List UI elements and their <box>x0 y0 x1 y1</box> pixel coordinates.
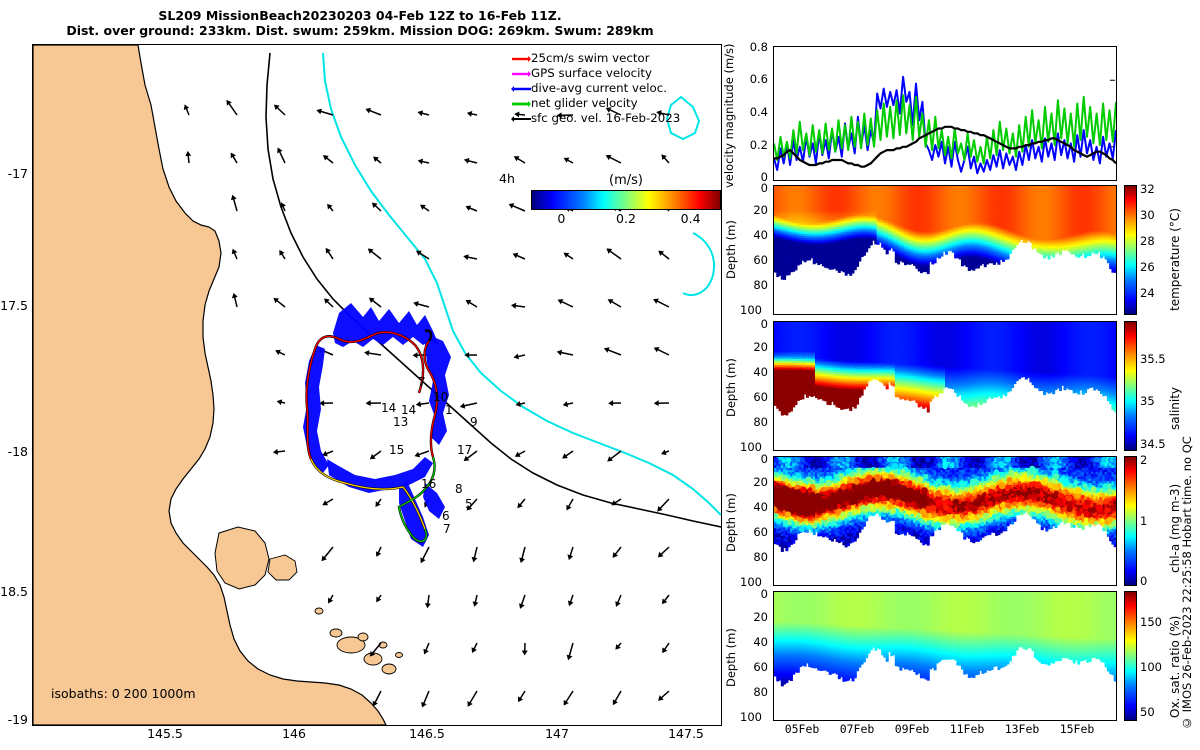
sfc-geo-icon <box>511 111 531 126</box>
salinity-section <box>774 322 1116 450</box>
chla-ytick-4: 80 <box>742 550 768 564</box>
oxy-cb-tick-1: 100 <box>1140 660 1162 674</box>
velocity-chart <box>774 47 1116 180</box>
oxy-ytick-3: 60 <box>742 660 768 674</box>
map-ytick-1: 17.5 <box>0 298 28 313</box>
waypoint-label-6: 6 <box>442 509 450 523</box>
dive-avg-icon <box>511 81 531 96</box>
waypoint-label-13: 13 <box>393 415 408 429</box>
waypoint-label-5: 5 <box>465 497 473 511</box>
waypoint-label-8: 8 <box>455 482 463 496</box>
oxy-ytick-4: 80 <box>742 685 768 699</box>
map-cb-tick-1: 0.2 <box>616 211 636 226</box>
time-tick-2: 09Feb <box>895 722 930 736</box>
time-interval-label: 4h <box>499 171 515 186</box>
sal-cb-tick-0: 34.5 <box>1140 437 1166 451</box>
legend-label-4: sfc geo. vel. 16-Feb-2023 <box>531 111 680 125</box>
legend-label-3: net glider velocity <box>531 96 638 110</box>
map-svg <box>33 45 721 725</box>
gps-velocity-icon <box>511 66 531 81</box>
time-tick-0: 05Feb <box>785 722 820 736</box>
net-glider-icon <box>511 96 531 111</box>
vel-ytick-1: 0.2 <box>742 138 768 152</box>
chla-colorbar <box>1124 456 1137 586</box>
legend-row-swim-vector: 25cm/s swim vector <box>511 51 721 66</box>
sal-ytick-0: 0 <box>742 317 768 331</box>
map-ytick-0: -17 <box>0 166 28 181</box>
map-xtick-1: 146 <box>282 726 306 741</box>
oxygen-panel[interactable] <box>773 591 1117 721</box>
temp-ytick-4: 80 <box>742 278 768 292</box>
chla-ylabel: Depth (m) <box>724 473 738 573</box>
temperature-section <box>774 186 1116 314</box>
vel-ytick-2: 0.4 <box>742 105 768 119</box>
mission-map[interactable]: 7 10 14 14 1 13 9 15 17 16 8 5 6 7 25cm/… <box>32 44 722 726</box>
temp-cb-tick-1: 26 <box>1140 260 1155 274</box>
waypoint-label-17: 17 <box>457 443 472 457</box>
map-cb-tick-0: 0 <box>557 211 565 226</box>
chla-section <box>774 457 1116 585</box>
velocity-ylabel: velocity magnitude (m/s) <box>722 38 736 188</box>
temp-ytick-3: 60 <box>742 253 768 267</box>
chla-ytick-3: 60 <box>742 525 768 539</box>
legend-row-sfc-geo: sfc geo. vel. 16-Feb-2023 <box>511 111 721 126</box>
oxy-ytick-2: 40 <box>742 635 768 649</box>
chla-cb-tick-2: 2 <box>1140 453 1147 467</box>
legend-label-0: 25cm/s swim vector <box>531 51 650 65</box>
map-colorbar-ticks: 0 0.2 0.4 <box>531 210 721 226</box>
oxy-ytick-5: 100 <box>736 710 762 724</box>
isobaths-label: isobaths: 0 200 1000m <box>51 686 196 701</box>
legend-row-dive-avg: dive-avg current veloc. <box>511 81 721 96</box>
temp-cb-tick-0: 24 <box>1140 286 1155 300</box>
temp-ylabel: Depth (m) <box>724 200 738 300</box>
waypoint-label-9: 9 <box>470 415 478 429</box>
copyright-label: © IMOS 26-Feb-2023 22:25:58 Hobart time.… <box>1180 420 1194 730</box>
chla-panel[interactable] <box>773 456 1117 586</box>
legend-label-2: dive-avg current veloc. <box>531 81 667 95</box>
sal-ytick-1: 20 <box>742 340 768 354</box>
page-title: SL209 MissionBeach20230203 04-Feb 12Z to… <box>0 8 720 38</box>
temperature-colorbar <box>1124 185 1137 315</box>
waypoint-label-1: 1 <box>445 403 453 417</box>
chla-cb-tick-0: 0 <box>1140 574 1147 588</box>
temp-cb-label: temperature (°C) <box>1168 186 1182 311</box>
map-ytick-3: 18.5 <box>0 584 28 599</box>
velocity-panel[interactable] <box>773 46 1117 181</box>
temperature-panel[interactable] <box>773 185 1117 315</box>
map-legend: 25cm/s swim vector GPS surface velocity … <box>511 51 721 126</box>
map-cb-tick-2: 0.4 <box>681 211 701 226</box>
sal-cb-tick-1: 35 <box>1140 394 1155 408</box>
chla-ytick-1: 20 <box>742 475 768 489</box>
chla-ytick-2: 40 <box>742 500 768 514</box>
title-line-1: SL209 MissionBeach20230203 04-Feb 12Z to… <box>0 8 720 23</box>
legend-row-gps-velocity: GPS surface velocity <box>511 66 721 81</box>
map-xtick-4: 147.5 <box>668 726 704 741</box>
temp-cb-tick-2: 28 <box>1140 234 1155 248</box>
sal-ylabel: Depth (m) <box>724 338 738 438</box>
salinity-colorbar <box>1124 321 1137 451</box>
temp-cb-tick-4: 32 <box>1140 182 1155 196</box>
vel-ytick-3: 0.6 <box>742 72 768 86</box>
oxy-ylabel: Depth (m) <box>724 608 738 708</box>
map-xtick-0: 145.5 <box>147 726 183 741</box>
swim-vector-icon <box>511 51 531 66</box>
waypoint-label-7: 7 <box>443 522 451 536</box>
title-line-2: Dist. over ground: 233km. Dist. swum: 25… <box>0 23 720 38</box>
map-xtick-3: 147 <box>545 726 569 741</box>
waypoint-label-10: 10 <box>433 390 448 404</box>
temp-ytick-5: 100 <box>736 303 762 317</box>
legend-label-1: GPS surface velocity <box>531 66 652 80</box>
oxy-ytick-0: 0 <box>742 587 768 601</box>
time-tick-5: 15Feb <box>1060 722 1095 736</box>
salinity-panel[interactable] <box>773 321 1117 451</box>
oxy-cb-tick-0: 50 <box>1140 705 1155 719</box>
temp-ytick-2: 40 <box>742 228 768 242</box>
map-ytick-4: -19 <box>0 712 28 727</box>
waypoint-label-16: 16 <box>421 477 436 491</box>
sal-cb-tick-2: 35.5 <box>1140 352 1166 366</box>
sal-ytick-4: 80 <box>742 415 768 429</box>
sal-ytick-2: 40 <box>742 365 768 379</box>
time-tick-4: 13Feb <box>1005 722 1040 736</box>
time-tick-3: 11Feb <box>950 722 985 736</box>
map-colorbar: (m/s) 0 0.2 0.4 <box>531 173 721 226</box>
map-colorbar-gradient <box>531 190 721 210</box>
temp-cb-tick-3: 30 <box>1140 208 1155 222</box>
waypoint-label-11: 7 <box>418 375 426 389</box>
oxygen-colorbar <box>1124 591 1137 721</box>
vel-ytick-4: 0.8 <box>742 40 768 54</box>
chla-cb-tick-1: 1 <box>1140 514 1147 528</box>
map-ytick-2: -18 <box>0 444 28 459</box>
oxy-cb-tick-2: 150 <box>1140 615 1162 629</box>
temp-ytick-1: 20 <box>742 203 768 217</box>
map-xtick-2: 146.5 <box>409 726 445 741</box>
oxygen-section <box>774 592 1116 720</box>
waypoint-label-14a: 14 <box>381 401 396 415</box>
sal-ytick-3: 60 <box>742 390 768 404</box>
waypoint-label-15: 15 <box>389 443 404 457</box>
chla-ytick-0: 0 <box>742 452 768 466</box>
oxy-ytick-1: 20 <box>742 610 768 624</box>
time-tick-1: 07Feb <box>840 722 875 736</box>
map-colorbar-title: (m/s) <box>531 173 721 188</box>
legend-row-net-glider: net glider velocity <box>511 96 721 111</box>
temp-ytick-0: 0 <box>742 181 768 195</box>
